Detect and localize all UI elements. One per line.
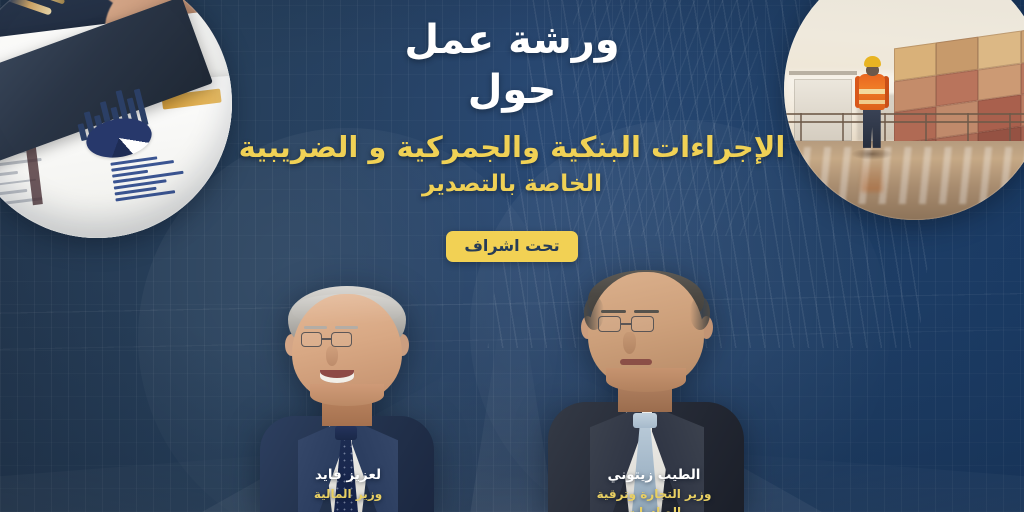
eyeglass-bridge — [621, 323, 631, 325]
workshop-poster: ورشة عمل حول الإجراءات البنكية والجمركية… — [0, 0, 1024, 512]
nameplate-left: لعزيز فايد وزير المالية — [230, 466, 466, 502]
portrait-left-chin — [310, 384, 384, 406]
portrait-left-nose — [326, 346, 338, 366]
speaker-role-right-line-2: الصادرات — [524, 504, 784, 512]
portrait-right-tie-knot — [633, 413, 657, 428]
eyeglass-bridge — [322, 338, 331, 340]
speaker-name-right: الطيب زيتوني — [524, 466, 784, 484]
eyeglass-lens-left — [598, 316, 621, 332]
portrait-left-eyebrow-right — [335, 326, 358, 329]
speaker-name-left: لعزيز فايد — [230, 466, 466, 484]
headline-block: ورشة عمل حول الإجراءات البنكية والجمركية… — [0, 14, 1024, 200]
documents-pen-nib — [43, 0, 65, 4]
headline-line-1: ورشة عمل — [0, 14, 1024, 66]
portrait-left-eyebrow-left — [304, 326, 327, 329]
speaker-role-right-line-1: وزير التجارة وترقية — [524, 486, 784, 502]
portrait-right-chin — [606, 368, 686, 392]
portrait-right-eyebrow-right — [634, 310, 659, 313]
headline-line-2: حول — [0, 64, 1024, 116]
nameplate-right: الطيب زيتوني وزير التجارة وترقية الصادرا… — [524, 466, 784, 512]
headline-topic-subtitle: الخاصة بالتصدير — [0, 168, 1024, 200]
supervision-badge: تحت اشراف — [446, 231, 577, 262]
portrait-right-eyebrow-left — [601, 310, 626, 313]
eyeglass-lens-left — [301, 332, 322, 347]
headline-topic: الإجراءات البنكية والجمركية و الضريبية — [0, 128, 1024, 166]
eyeglass-lens-right — [331, 332, 352, 347]
portrait-right-eyeglasses — [598, 316, 696, 333]
portrait-right-nose — [623, 332, 636, 354]
portrait-left-tie-knot — [335, 426, 357, 440]
portrait-right-mouth — [620, 359, 652, 365]
eyeglass-lens-right — [631, 316, 654, 332]
speaker-role-left: وزير المالية — [230, 486, 466, 502]
supervision-badge-wrapper: تحت اشراف — [0, 231, 1024, 262]
portrait-left-smile — [320, 370, 354, 383]
portrait-left-forehead-light — [292, 294, 402, 324]
portrait-left-eyeglasses — [301, 332, 393, 348]
